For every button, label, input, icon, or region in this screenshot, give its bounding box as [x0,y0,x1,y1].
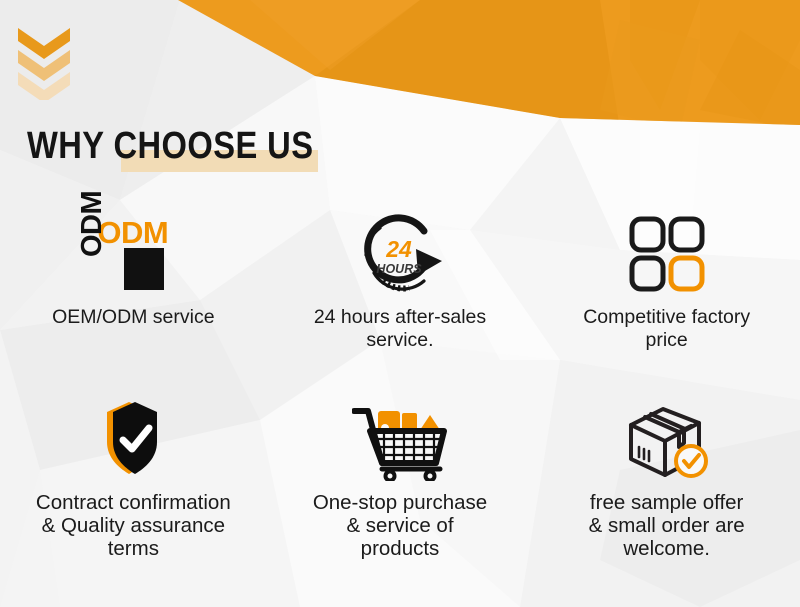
feature-item-contract-quality: Contract confirmation & Quality assuranc… [0,391,267,576]
feature-label: free sample offer & small order are welc… [589,491,745,560]
page-title-group: WHY CHOOSE US [27,124,360,174]
feature-icon-wrap: 24 HOURS [354,206,446,302]
feature-icon-wrap: ODM ODM [90,206,176,302]
chevron-decoration [18,28,70,100]
feature-label: Contract confirmation & Quality assuranc… [36,491,231,560]
shopping-cart-icon [352,397,448,481]
hours-label: HOURS [376,262,422,276]
feature-item-factory-price: Competitive factory price [533,206,800,391]
feature-grid: ODM ODM OEM/ODM service [0,206,800,576]
odm-badge-icon: ODM ODM [90,217,176,291]
feature-item-24-hours: 24 HOURS 24 hours after-sales service. [267,206,534,391]
feature-item-oem-odm: ODM ODM OEM/ODM service [0,206,267,391]
feature-icon-wrap [621,391,713,487]
feature-icon-wrap [352,391,448,487]
24-hours-clock-icon: 24 HOURS [354,211,446,297]
feature-label: 24 hours after-sales service. [314,306,486,352]
odm-side-text: ODM [78,191,107,257]
shield-check-icon [93,398,173,480]
why-choose-us-banner: WHY CHOOSE US ODM ODM OEM/ODM service [0,0,800,607]
feature-label: OEM/ODM service [52,306,215,329]
odm-square-shape [124,248,164,290]
page-title: WHY CHOOSE US [27,124,313,168]
feature-item-free-sample: free sample offer & small order are welc… [533,391,800,576]
24-label: 24 [385,236,412,262]
feature-item-one-stop-purchase: One-stop purchase & service of products [267,391,534,576]
feature-icon-wrap [628,206,706,302]
feature-label: One-stop purchase & service of products [313,491,487,560]
four-squares-grid-icon [628,215,706,293]
chevron-down-icon [18,28,70,59]
check-badge-icon [676,446,706,476]
package-box-check-icon [621,397,713,481]
feature-label: Competitive factory price [583,306,750,352]
feature-icon-wrap [93,391,173,487]
